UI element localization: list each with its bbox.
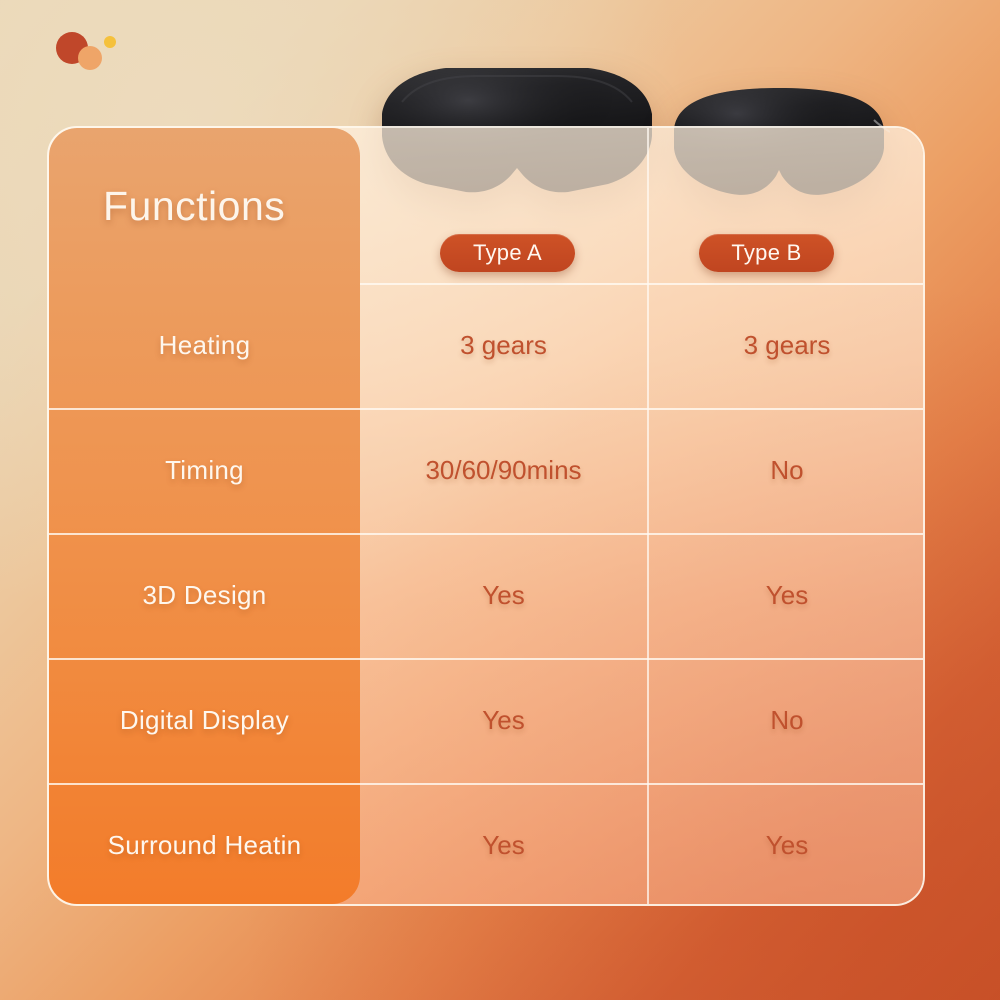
badge-type-a: Type A bbox=[440, 234, 575, 272]
row-label-3d-design: 3D Design bbox=[49, 533, 360, 658]
cell-timing-type-b: No bbox=[647, 408, 925, 533]
cell-3d-design-type-a: Yes bbox=[360, 533, 647, 658]
row-label-surround-heating: Surround Heatin bbox=[49, 783, 360, 906]
cell-3d-design-type-b: Yes bbox=[647, 533, 925, 658]
cell-heating-type-a: 3 gears bbox=[360, 283, 647, 408]
cell-digital-display-type-b: No bbox=[647, 658, 925, 783]
cell-surround-heating-type-b: Yes bbox=[647, 783, 925, 906]
row-label-digital-display: Digital Display bbox=[49, 658, 360, 783]
row-label-heating: Heating bbox=[49, 283, 360, 408]
page-title: Functions bbox=[49, 128, 360, 284]
row-label-timing: Timing bbox=[49, 408, 360, 533]
comparison-infographic: Functions Heating 3 gears 3 gears Timing… bbox=[0, 0, 1000, 1000]
logo-dot-small-icon bbox=[104, 36, 116, 48]
cell-digital-display-type-a: Yes bbox=[360, 658, 647, 783]
brand-logo bbox=[56, 26, 126, 74]
cell-surround-heating-type-a: Yes bbox=[360, 783, 647, 906]
logo-dot-medium-icon bbox=[78, 46, 102, 70]
cell-heating-type-b: 3 gears bbox=[647, 283, 925, 408]
cell-timing-type-a: 30/60/90mins bbox=[360, 408, 647, 533]
badge-type-b: Type B bbox=[699, 234, 834, 272]
